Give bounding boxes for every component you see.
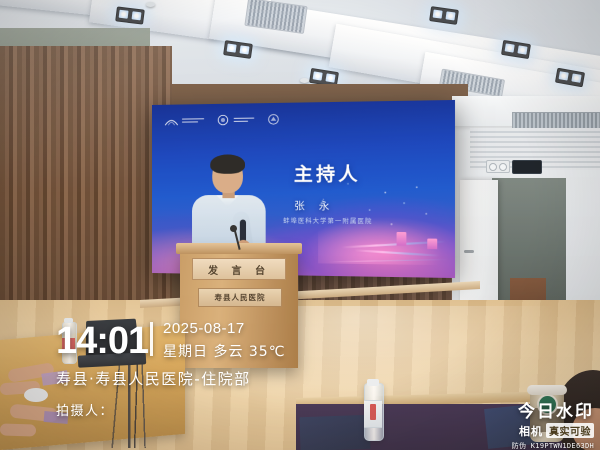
- screen-tower-graphic: [427, 239, 437, 250]
- foreground-bottle-cap: [367, 379, 379, 386]
- photo-canvas: 主持人 张 永 蚌埠医科大学第一附属医院 发 言 台 寿县人民医院: [0, 0, 600, 450]
- seal-icon: [266, 113, 282, 125]
- screen-tower-graphic: [397, 232, 407, 246]
- logo-arch-mark: [164, 114, 204, 127]
- logo-seal-mark: [266, 113, 282, 125]
- left-table-bottle-label: [62, 338, 75, 352]
- exit-sign: [512, 160, 542, 174]
- emergency-light-icon: [486, 160, 510, 173]
- smoke-detector-icon: [146, 2, 155, 7]
- screen-speaker-affiliation: 蚌埠医科大学第一附属医院: [283, 216, 372, 226]
- podium-top-plate-text: 发 言 台: [208, 262, 270, 277]
- coffee-cup-lid: [527, 385, 567, 395]
- ceiling-downlight: [429, 6, 459, 25]
- arch-icon: [164, 115, 179, 127]
- screen-speaker-name: 张 永: [294, 197, 334, 213]
- podium-bottom-plate-text: 寿县人民医院: [215, 292, 266, 303]
- screen-title: 主持人: [294, 160, 361, 187]
- smoke-detector-icon: [300, 78, 309, 83]
- logo-circle-mark: [215, 114, 254, 127]
- left-table-bottle-cap: [64, 318, 73, 323]
- attendee-hand: [0, 423, 36, 436]
- screen-logo-row: [164, 113, 281, 127]
- computer-mouse: [24, 388, 48, 402]
- ceiling-downlight: [223, 40, 253, 59]
- coffee-cup-logo-icon: [537, 394, 558, 415]
- podium-microphone-head: [230, 225, 237, 232]
- logo-text-lines: [182, 118, 204, 123]
- podium-bottom-plate: 寿县人民医院: [198, 288, 282, 307]
- cable-bundle: [96, 356, 166, 448]
- circle-seal-icon: [215, 114, 230, 126]
- foreground-badge-card: [299, 415, 370, 450]
- purple-document: [44, 411, 69, 424]
- ceiling-downlight: [115, 6, 145, 24]
- logo-text-lines: [234, 117, 255, 122]
- on-screen-speaker-hair: [210, 154, 245, 173]
- foreground-bottle-accent: [370, 404, 376, 420]
- door-handle[interactable]: [464, 250, 474, 253]
- podium-top-plate: 发 言 台: [192, 258, 286, 280]
